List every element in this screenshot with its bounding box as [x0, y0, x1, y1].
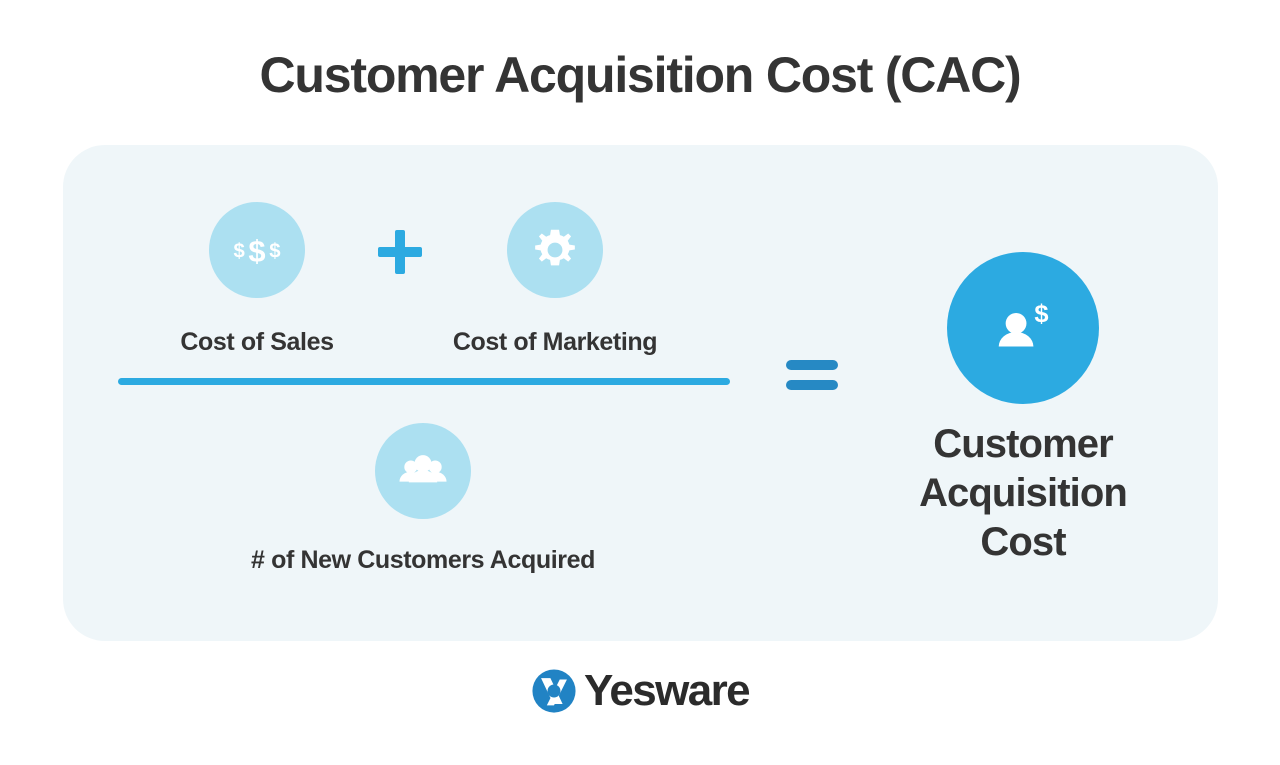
- page-title: Customer Acquisition Cost (CAC): [0, 48, 1280, 103]
- equals-bar-bottom: [786, 380, 838, 390]
- gear-center-hole: [548, 243, 563, 258]
- result-line-3: Cost: [873, 518, 1173, 567]
- formula-panel: $ $ $ Cost of Sales Cost o: [63, 145, 1218, 641]
- result-label: Customer Acquisition Cost: [873, 420, 1173, 566]
- result-icon-circle: $: [947, 252, 1099, 404]
- cost-of-sales-label: Cost of Sales: [109, 327, 405, 357]
- dollar-signs-icon: $ $ $: [231, 224, 283, 276]
- svg-text:$: $: [269, 240, 280, 262]
- yesware-wordmark: Yesware: [584, 669, 749, 713]
- fraction-bar: [118, 378, 730, 385]
- svg-text:$: $: [233, 240, 244, 262]
- new-customers-label: # of New Customers Acquired: [173, 545, 673, 575]
- equals-sign: [786, 360, 838, 390]
- cost-of-marketing-icon-circle: [507, 202, 603, 298]
- people-group-icon: [397, 445, 449, 497]
- cac-formula: $ $ $ Cost of Sales Cost o: [63, 145, 1218, 641]
- plus-sign: [378, 230, 422, 274]
- result-line-1: Customer: [873, 420, 1173, 469]
- cost-of-sales-icon-circle: $ $ $: [209, 202, 305, 298]
- new-customers-icon-circle: [375, 423, 471, 519]
- svg-text:$: $: [248, 233, 265, 268]
- person-with-dollar-icon: $: [986, 291, 1060, 365]
- result-line-2: Acquisition: [873, 469, 1173, 518]
- yesware-logo-mark: [531, 668, 577, 714]
- gear-icon: [530, 225, 580, 275]
- infographic-canvas: Customer Acquisition Cost (CAC) $ $ $: [0, 0, 1280, 765]
- svg-text:$: $: [1034, 300, 1048, 328]
- brand-logo: Yesware: [0, 668, 1280, 714]
- equals-bar-top: [786, 360, 838, 370]
- cost-of-marketing-label: Cost of Marketing: [407, 327, 703, 357]
